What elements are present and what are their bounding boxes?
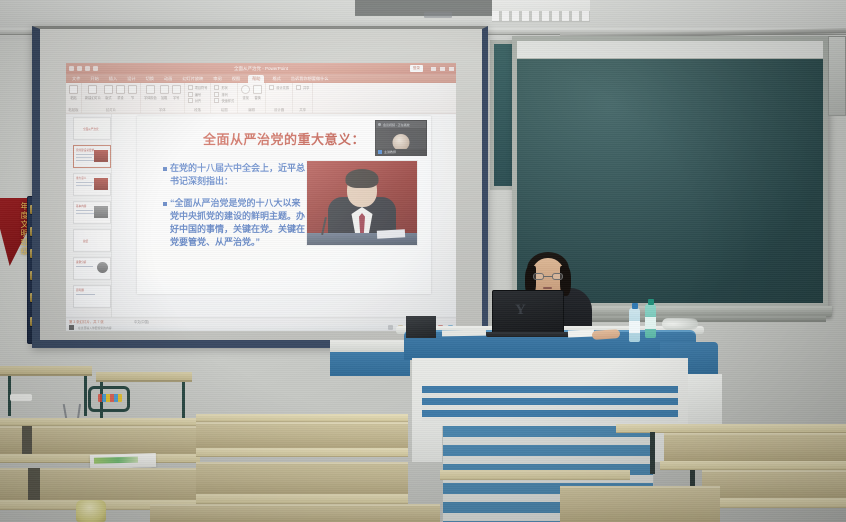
font-size-icon: [172, 85, 181, 94]
ceiling-light-icon: [492, 0, 590, 22]
shapes-icon: [214, 85, 219, 90]
group-label-drawing: 绘图: [211, 107, 237, 112]
bullets-label: 项目符号: [195, 85, 208, 90]
tab-tell-me[interactable]: 告诉我你想要做什么: [289, 76, 331, 83]
bench-desk-center-top: [196, 414, 408, 422]
bench-desk-front: [440, 470, 630, 480]
thumb-photo: [94, 150, 108, 162]
slide-editing-area[interactable]: 全面从严治党的重大意义： 在党的十八届六中全会上，近平总书记深刻指出： “全面从…: [112, 114, 456, 317]
blackboard-top-rail: [517, 41, 823, 59]
numbering-label: 编号: [195, 92, 201, 97]
find-label: 查找: [243, 95, 249, 100]
minimize-icon[interactable]: [431, 67, 436, 71]
thumbnail-slide-6[interactable]: 6 案例分析: [73, 257, 111, 280]
shapes-label: 形状: [221, 85, 227, 90]
reset-label: 重设: [117, 95, 123, 100]
ribbon-group-slides[interactable]: 新建幻灯片 版式 重设 节 幻灯片: [82, 83, 141, 113]
video-participant-name: 主讲教师: [384, 150, 396, 154]
thumbnail-slide-7[interactable]: 7 思考题: [73, 285, 111, 308]
bullet-marker-icon: [163, 202, 167, 206]
group-label-designer: 设计器: [266, 107, 292, 112]
laptop-base: [486, 332, 570, 337]
font-size-button[interactable]: 字号: [172, 85, 181, 100]
layout-button[interactable]: 版式: [104, 85, 113, 100]
new-slide-button[interactable]: 新建幻灯片: [85, 85, 101, 100]
camera-icon: [378, 123, 381, 126]
thumb-photo: [97, 262, 108, 273]
start-button-icon[interactable]: [69, 325, 74, 330]
thumbnail-slide-1[interactable]: 1 全面从严治党: [73, 117, 111, 140]
thumb-title: 案例分析: [76, 260, 86, 264]
video-panel-header: 会议视频 - 正在播放: [376, 121, 426, 128]
ribbon-group-font[interactable]: 字体颜色 加粗 字号 字体: [141, 83, 185, 113]
numbering-button[interactable]: 编号: [188, 92, 208, 97]
thumb-photo: [94, 206, 108, 218]
bench-desk-center-3: [196, 494, 408, 504]
photo-figure-hair: [346, 169, 379, 188]
tab-transitions[interactable]: 切换: [144, 76, 156, 83]
podium-papers: [442, 330, 486, 337]
slide-bullet-item: 在党的十八届六中全会上，近平总书记深刻指出：: [163, 162, 305, 188]
bench-back-center-2: [196, 462, 408, 494]
find-button[interactable]: 查找: [241, 85, 250, 100]
thumbnail-slide-3[interactable]: 3 重大意义: [73, 173, 111, 196]
font-size-label: 字号: [173, 95, 179, 100]
back-desk-left: [0, 366, 92, 376]
document-title: 全面从严治党 - PowerPoint: [234, 66, 288, 72]
bench-back-center-3: [150, 504, 440, 522]
bullets-button[interactable]: 项目符号: [188, 85, 208, 90]
ribbon-group-editing[interactable]: 查找 替换 编辑: [238, 83, 266, 113]
bench-back-right-2: [702, 470, 846, 498]
ribbon-group-clipboard[interactable]: 粘贴 粘贴板: [66, 83, 82, 113]
share-icon: [296, 85, 301, 90]
tab-slideshow[interactable]: 幻灯片放映: [180, 76, 205, 83]
teacher-hand: [592, 329, 621, 340]
font-color-button[interactable]: 字体颜色: [144, 85, 157, 100]
tab-insert[interactable]: 插入: [107, 76, 119, 83]
tab-design[interactable]: 设计: [125, 76, 137, 83]
close-icon[interactable]: [449, 67, 454, 71]
group-label-editing: 编辑: [238, 107, 265, 112]
cup-on-desk: [76, 500, 106, 522]
classroom-scene: 年度文明班级 07 13 19 25 31 37: [0, 0, 846, 522]
thumbnail-slide-4[interactable]: 4 基本内容: [73, 201, 111, 224]
bottle-label: [629, 321, 640, 333]
customize-icon[interactable]: [93, 66, 98, 71]
microphone-icon[interactable]: [378, 150, 382, 154]
group-label-paragraph: 段落: [185, 107, 211, 112]
ribbon[interactable]: 粘贴 粘贴板 新建幻灯片 版式 重设: [66, 83, 456, 114]
quick-styles-button[interactable]: 快速样式: [214, 98, 234, 103]
align-label: 对齐: [195, 98, 201, 103]
group-label-slides: 幻灯片: [82, 107, 140, 112]
teacher-mouth: [543, 287, 552, 289]
desk-object: [10, 394, 32, 401]
projected-screen: 全面从严治党 - PowerPoint 登录 文件 开始 插入 设计 切换 动画…: [66, 63, 456, 331]
restore-icon[interactable]: [440, 67, 445, 71]
water-bottle: [629, 308, 640, 342]
podium-stripe-band: [422, 386, 678, 422]
numbered-list-icon: [188, 92, 193, 97]
new-slide-icon: [88, 85, 97, 94]
thumb-title: 全面从严治党: [83, 127, 99, 131]
tab-file[interactable]: 文件: [70, 76, 82, 83]
tab-help[interactable]: 帮助: [248, 75, 264, 83]
taskbar-search-input[interactable]: 在这里输入你要搜索的内容: [78, 326, 112, 330]
design-ideas-button[interactable]: 设计灵感: [269, 85, 289, 90]
book-cover-band: [94, 457, 138, 464]
book-on-desk: [90, 453, 156, 469]
thumbnail-slide-2[interactable]: 2 党的建设总要求: [73, 145, 111, 168]
bold-icon: [160, 85, 169, 94]
tab-home[interactable]: 开始: [88, 76, 100, 83]
search-icon: [241, 85, 250, 94]
bold-label: 加粗: [161, 95, 167, 100]
replace-button[interactable]: 替换: [253, 85, 262, 100]
save-icon[interactable]: [69, 66, 74, 71]
paste-button[interactable]: 粘贴: [69, 85, 78, 100]
section-label: 节: [131, 95, 134, 100]
slide-thumbnail-pane[interactable]: 1 全面从严治党 2 党的建设总要求 3 重大意义: [66, 114, 112, 317]
video-conference-panel[interactable]: 会议视频 - 正在播放 主讲教师: [375, 120, 427, 156]
thumb-title: 党的建设总要求: [76, 148, 94, 152]
align-icon: [188, 98, 193, 103]
replace-label: 替换: [255, 95, 261, 100]
laptop-screen: [492, 290, 564, 334]
thumbnail-slide-5[interactable]: 5 总结: [73, 229, 111, 252]
current-slide[interactable]: 全面从严治党的重大意义： 在党的十八届六中全会上，近平总书记深刻指出： “全面从…: [137, 116, 431, 294]
bench-back-center: [196, 422, 408, 448]
ribbon-group-paragraph[interactable]: 项目符号 编号 对齐 段落: [185, 83, 212, 113]
quick-access-toolbar[interactable]: [66, 66, 98, 71]
tab-view[interactable]: 视图: [230, 76, 242, 83]
wall-brand-plate: [424, 12, 452, 18]
slide-bullet-item: “全面从严治党是党的十八大以来党中央抓党的建设的鲜明主题。办好中国的事情，关键在…: [163, 197, 305, 249]
ribbon-tabs[interactable]: 文件 开始 插入 设计 切换 动画 幻灯片放映 审阅 视图 帮助 格式 告诉我你…: [66, 74, 456, 83]
desk-leg: [182, 382, 185, 418]
bold-button[interactable]: 加粗: [160, 85, 169, 100]
bottle-label: [645, 317, 656, 329]
redo-icon[interactable]: [85, 66, 90, 71]
design-ideas-icon: [269, 85, 274, 90]
ppt-title-bar: 全面从严治党 - PowerPoint 登录: [66, 63, 456, 74]
podium-left-panel: [330, 352, 410, 376]
podium-equipment-box: [406, 316, 436, 338]
ribbon-group-designer[interactable]: 设计灵感 设计器: [266, 83, 293, 113]
slide-title: 全面从严治党的重大意义：: [203, 129, 365, 148]
bench-back-right-3: [560, 486, 720, 522]
undo-icon[interactable]: [77, 66, 82, 71]
section-icon: [128, 85, 137, 94]
arrange-button[interactable]: 排列: [214, 92, 234, 97]
wall-switch-panel: [828, 36, 846, 116]
slide-photo: [306, 160, 418, 246]
thumb-title: 重大意义: [76, 176, 86, 180]
bench-gap: [28, 468, 40, 502]
quick-styles-icon: [214, 98, 219, 103]
light-fins: [492, 11, 590, 21]
section-button[interactable]: 节: [128, 85, 137, 100]
arrange-icon: [214, 92, 219, 97]
window-buttons[interactable]: 登录: [410, 65, 454, 72]
group-label-share: 共享: [293, 107, 312, 112]
paste-icon: [69, 85, 78, 94]
reset-button[interactable]: 重设: [116, 85, 125, 100]
layout-label: 版式: [105, 95, 111, 100]
thumb-title: 思考题: [76, 288, 84, 292]
ribbon-group-share[interactable]: 共享 共享: [293, 83, 313, 113]
bench-gap: [22, 426, 32, 454]
glasses-icon: [552, 273, 563, 280]
font-color-label: 字体颜色: [144, 95, 157, 100]
podium-papers-2: [568, 330, 594, 338]
align-button[interactable]: 对齐: [188, 98, 208, 103]
laptop-brand-logo: Y: [515, 302, 526, 319]
back-desk-mid: [96, 372, 192, 382]
podium-cables: [662, 318, 698, 330]
bench-desk-top-row1: [0, 418, 196, 426]
thumb-title: 总结: [83, 239, 88, 243]
glasses-icon: [533, 273, 544, 280]
group-label-font: 字体: [141, 107, 184, 112]
bench-back-right: [664, 433, 846, 461]
tab-animations[interactable]: 动画: [162, 76, 174, 83]
share-button[interactable]: 共享: [296, 85, 309, 90]
font-color-icon: [146, 85, 155, 94]
thermos-bottle: [645, 304, 656, 338]
tab-format[interactable]: 格式: [270, 76, 282, 83]
sign-in-button[interactable]: 登录: [410, 65, 423, 72]
bullet-text: “全面从严治党是党的十八大以来党中央抓党的建设的鲜明主题。办好中国的事情，关键在…: [170, 197, 305, 249]
bullet-list-icon: [188, 85, 193, 90]
shapes-button[interactable]: 形状: [214, 85, 234, 90]
paste-label: 粘贴: [70, 95, 76, 100]
slide-bullet-list: 在党的十八届六中全会上，近平总书记深刻指出： “全面从严治党是党的十八大以来党中…: [163, 162, 305, 258]
desk-stickers: [98, 394, 122, 402]
desk-leg: [84, 376, 87, 416]
ppt-workspace: 1 全面从严治党 2 党的建设总要求 3 重大意义: [66, 114, 456, 317]
bullet-text: 在党的十八届六中全会上，近平总书记深刻指出：: [170, 162, 305, 188]
design-ideas-label: 设计灵感: [276, 85, 289, 90]
video-panel-title: 会议视频 - 正在播放: [383, 123, 410, 127]
reset-icon: [116, 85, 125, 94]
bottle-cap: [632, 303, 638, 309]
pennant-label: 年度文明班级: [0, 202, 30, 256]
group-label-clipboard: 粘贴板: [66, 107, 81, 112]
new-slide-label: 新建幻灯片: [85, 95, 101, 100]
settings-icon[interactable]: [388, 325, 393, 330]
ribbon-group-drawing[interactable]: 形状 排列 快速样式 绘图: [211, 83, 238, 113]
bullet-marker-icon: [163, 167, 167, 171]
share-label: 共享: [303, 85, 309, 90]
quick-styles-label: 快速样式: [221, 98, 234, 103]
bench-desk-right-2: [660, 461, 846, 470]
video-panel-footer[interactable]: 主讲教师: [376, 149, 426, 155]
bench-desk-center-2: [196, 448, 408, 457]
desk-leg: [650, 432, 655, 474]
photo-papers: [377, 229, 405, 238]
replace-icon: [253, 85, 262, 94]
thumb-title: 基本内容: [76, 204, 86, 208]
arrange-label: 排列: [221, 92, 227, 97]
glasses-bridge: [544, 276, 552, 277]
tab-review[interactable]: 审阅: [211, 76, 223, 83]
layout-icon: [104, 85, 113, 94]
thumb-photo: [94, 178, 108, 190]
bottle-cap: [648, 299, 654, 305]
